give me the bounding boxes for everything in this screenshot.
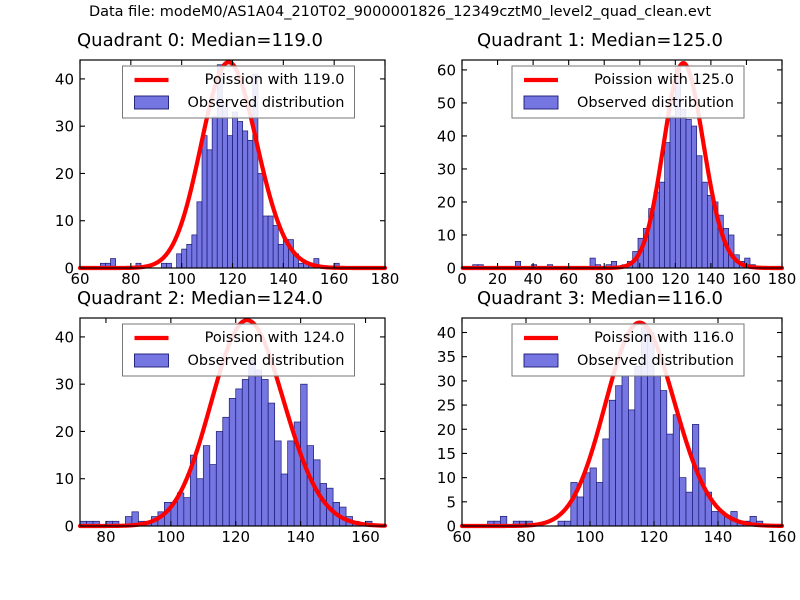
histogram-bar (281, 474, 287, 526)
legend[interactable]: Poission with 116.0Observed distribution (512, 324, 744, 376)
legend-label-poisson: Poission with 125.0 (594, 72, 734, 88)
histogram-bar (268, 403, 274, 526)
histogram-bar (712, 511, 718, 526)
histogram-bar (702, 182, 707, 268)
y-tick-label: 30 (55, 376, 74, 394)
y-tick-label: 25 (437, 397, 456, 415)
x-tick-label: 180 (371, 270, 400, 288)
x-tick-label: 100 (625, 270, 654, 288)
histogram-bar (628, 410, 634, 526)
figure-suptitle: Data file: modeM0/AS1A04_210T02_90000018… (0, 4, 800, 20)
x-tick-label: 80 (96, 528, 115, 546)
histogram-bar (622, 376, 628, 526)
histogram-bar (707, 195, 712, 268)
legend-label-observed: Observed distribution (187, 353, 344, 369)
histogram-bar (654, 376, 660, 526)
histogram-bar (210, 465, 216, 526)
histogram-bar (184, 498, 190, 526)
y-tick-label: 10 (55, 212, 74, 230)
histogram-bar (242, 379, 248, 526)
y-tick-label: 10 (55, 470, 74, 488)
histogram-bar (590, 468, 596, 526)
legend-label-observed: Observed distribution (187, 95, 344, 111)
legend-label-poisson: Poission with 119.0 (205, 72, 345, 88)
x-tick-label: 140 (269, 270, 298, 288)
y-tick-label: 35 (437, 348, 456, 366)
histogram-bar (635, 366, 641, 526)
histogram-bar (275, 441, 281, 526)
y-tick-label: 0 (64, 518, 74, 536)
legend-label-poisson: Poission with 116.0 (594, 330, 734, 346)
y-tick-label: 5 (446, 493, 456, 511)
x-tick-label: 120 (640, 528, 669, 546)
x-tick-label: 180 (768, 270, 797, 288)
legend-label-poisson: Poission with 124.0 (205, 330, 345, 346)
histogram-bar (577, 497, 583, 526)
x-tick-label: 80 (516, 528, 535, 546)
histogram-bar (680, 478, 686, 526)
y-tick-label: 40 (55, 70, 74, 88)
histogram-bars (80, 361, 372, 526)
x-tick-label: 160 (732, 270, 761, 288)
histogram-bar (609, 400, 615, 526)
histogram-bar (207, 150, 212, 268)
histogram-bar (229, 398, 235, 526)
histogram-bar (558, 521, 564, 526)
x-tick-label: 140 (704, 528, 733, 546)
x-tick-label: 0 (457, 270, 467, 288)
y-tick-label: 20 (437, 193, 456, 211)
histogram-bar (584, 473, 590, 526)
y-tick-label: 30 (55, 118, 74, 136)
y-tick-label: 0 (64, 260, 74, 278)
histogram-bar (227, 136, 232, 268)
histogram-bar (278, 244, 283, 268)
histogram-bar (268, 216, 273, 268)
histogram-bar (166, 263, 171, 268)
histogram-bar (182, 249, 187, 268)
histogram-bar (222, 103, 227, 268)
legend[interactable]: Poission with 124.0Observed distribution (123, 324, 355, 376)
legend-label-observed: Observed distribution (577, 353, 734, 369)
histogram-bar (203, 446, 209, 526)
histogram-bar (255, 370, 261, 526)
histogram-bar (202, 136, 207, 268)
histogram-bar (216, 431, 222, 526)
histogram-bar (673, 415, 679, 526)
x-tick-label: 160 (351, 528, 380, 546)
histogram-bar (659, 182, 664, 268)
x-tick-label: 80 (595, 270, 614, 288)
panel-title-quadrant-3: Quadrant 3: Median=116.0 (400, 288, 800, 309)
histogram-bar (665, 143, 670, 268)
x-tick-label: 160 (320, 270, 349, 288)
panel-title-quadrant-2: Quadrant 2: Median=124.0 (0, 288, 400, 309)
histogram-bar (177, 254, 182, 268)
x-tick-label: 120 (221, 528, 250, 546)
legend-bar-swatch (524, 354, 558, 367)
y-tick-label: 20 (55, 165, 74, 183)
histogram-bar (603, 439, 609, 526)
histogram-bar (660, 391, 666, 526)
histogram-bar (667, 434, 673, 526)
panel-quadrant-1: Quadrant 1: Median=125.0 020406080100120… (400, 30, 800, 295)
y-tick-label: 0 (446, 518, 456, 536)
histogram-bar (233, 112, 238, 268)
x-tick-label: 140 (286, 528, 315, 546)
legend-bar-swatch (524, 96, 558, 109)
y-tick-label: 30 (437, 372, 456, 390)
histogram-bar (161, 263, 166, 268)
panel-quadrant-3: Quadrant 3: Median=116.0 608010012014016… (400, 288, 800, 553)
y-tick-label: 20 (55, 423, 74, 441)
plot-quadrant-2: 80100120140160010203040Poission with 124… (0, 288, 400, 553)
histogram-bar (238, 121, 243, 268)
y-tick-label: 15 (437, 445, 456, 463)
y-tick-label: 20 (437, 421, 456, 439)
histogram-bar (187, 244, 192, 268)
legend[interactable]: Poission with 119.0Observed distribution (123, 66, 355, 118)
histogram-bar (697, 156, 702, 268)
x-tick-label: 100 (576, 528, 605, 546)
panel-title-quadrant-1: Quadrant 1: Median=125.0 (400, 30, 800, 51)
x-tick-label: 100 (157, 528, 186, 546)
histogram-bar (192, 235, 197, 268)
y-tick-label: 30 (437, 160, 456, 178)
histogram-bar (288, 441, 294, 526)
histogram-bar (670, 116, 675, 268)
y-tick-label: 40 (55, 328, 74, 346)
histogram-bar (258, 173, 263, 268)
y-tick-label: 40 (437, 127, 456, 145)
x-tick-label: 140 (697, 270, 726, 288)
x-tick-label: 120 (661, 270, 690, 288)
panel-quadrant-2: Quadrant 2: Median=124.0 801001201401600… (0, 288, 400, 553)
figure-canvas: Data file: modeM0/AS1A04_210T02_90000018… (0, 0, 800, 600)
histogram-bar (273, 225, 278, 268)
histogram-bar (686, 119, 691, 268)
x-tick-label: 20 (488, 270, 507, 288)
plot-quadrant-1: 0204060801001201401601800102030405060Poi… (400, 30, 800, 295)
plot-quadrant-3: 60801001201401600510152025303540Poission… (400, 288, 800, 553)
histogram-bar (691, 126, 696, 268)
x-tick-label: 40 (524, 270, 543, 288)
histogram-bar (681, 110, 686, 268)
y-tick-label: 10 (437, 226, 456, 244)
histogram-bar (236, 389, 242, 526)
histogram-bar (299, 263, 304, 268)
histogram-bar (262, 379, 268, 526)
y-tick-label: 10 (437, 469, 456, 487)
histogram-bar (263, 216, 268, 268)
x-tick-label: 80 (121, 270, 140, 288)
histogram-bar (564, 521, 570, 526)
plot-quadrant-0: 6080100120140160180010203040Poission wit… (0, 30, 400, 295)
histogram-bar (249, 361, 255, 526)
histogram-bar (248, 140, 253, 268)
panel-quadrant-0: Quadrant 0: Median=119.0 608010012014016… (0, 30, 400, 295)
histogram-bar (197, 479, 203, 526)
histogram-bar (212, 117, 217, 268)
y-tick-label: 40 (437, 324, 456, 342)
histogram-bar (243, 131, 248, 268)
panel-title-quadrant-0: Quadrant 0: Median=119.0 (0, 30, 400, 51)
x-tick-label: 60 (559, 270, 578, 288)
y-tick-label: 50 (437, 94, 456, 112)
legend[interactable]: Poission with 125.0Observed distribution (512, 66, 744, 118)
legend-bar-swatch (135, 96, 169, 109)
histogram-bar (223, 417, 229, 526)
y-tick-label: 60 (437, 61, 456, 79)
legend-label-observed: Observed distribution (577, 95, 734, 111)
x-tick-label: 100 (167, 270, 196, 288)
histogram-bar (197, 202, 202, 268)
histogram-bar (616, 386, 622, 526)
y-tick-label: 0 (446, 260, 456, 278)
histogram-bar (686, 492, 692, 526)
histogram-bar (596, 482, 602, 526)
legend-bar-swatch (135, 354, 169, 367)
x-tick-label: 160 (768, 528, 797, 546)
x-tick-label: 120 (218, 270, 247, 288)
